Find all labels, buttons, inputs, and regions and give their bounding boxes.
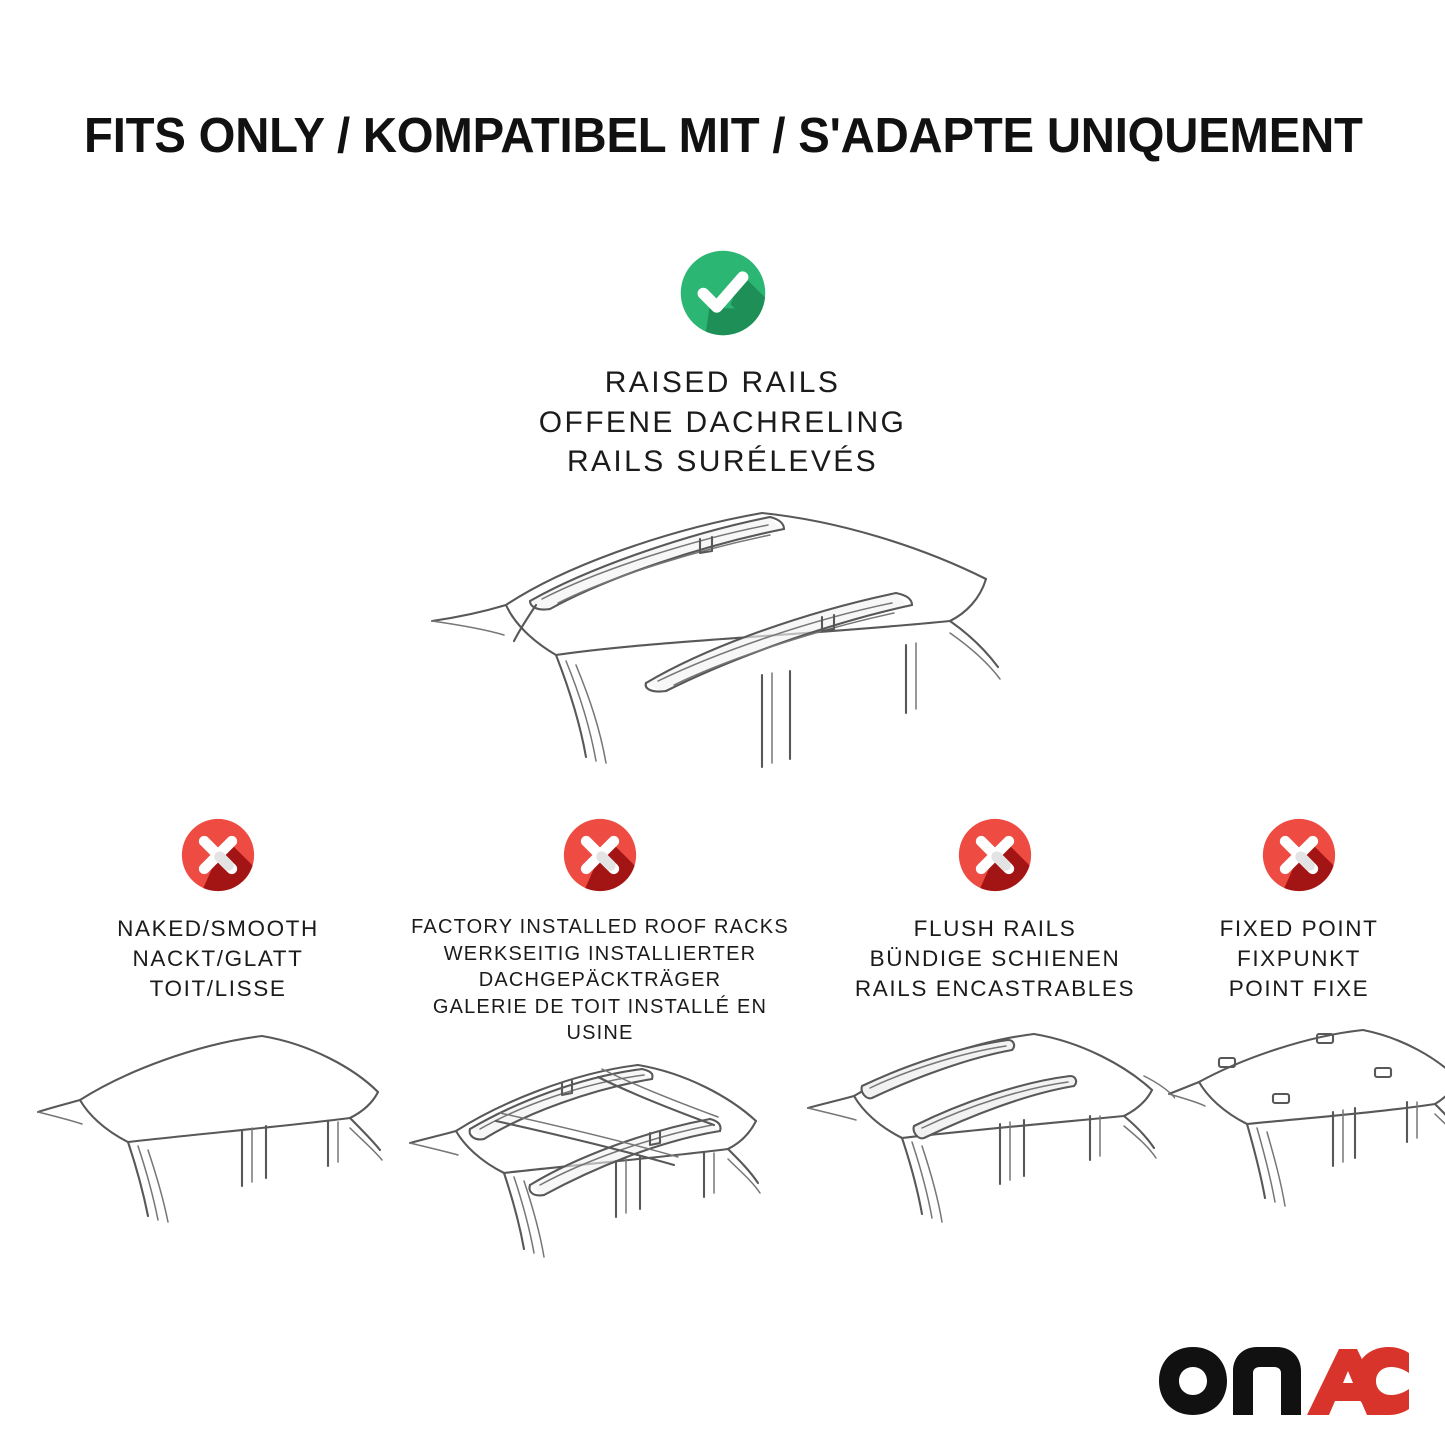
check-circle-icon (675, 245, 771, 341)
caption-line-de: FIXPUNKT (1165, 944, 1433, 974)
page-title: FITS ONLY / KOMPATIBEL MIT / S'ADAPTE UN… (84, 108, 1329, 164)
caption-line-fr: GALERIE DE TOIT INSTALLÉ EN USINE (398, 994, 802, 1047)
option-caption: FIXED POINT FIXPUNKT POINT FIXE (1165, 914, 1433, 1004)
omac-logo (1157, 1343, 1415, 1417)
car-roof-raised-rails-illustration (410, 495, 1030, 785)
not-compatible-section: NAKED/SMOOTH NACKT/GLATT TOIT/LISSE (0, 812, 1445, 1252)
compatible-caption: RAISED RAILS OFFENE DACHRELING RAILS SUR… (0, 363, 1445, 482)
option-fixed-point: FIXED POINT FIXPUNKT POINT FIXE (1165, 812, 1433, 1235)
option-factory-roof-racks: FACTORY INSTALLED ROOF RACKS WERKSEITIG … (398, 812, 802, 1278)
caption-line-en: RAISED RAILS (0, 363, 1445, 403)
option-caption: FACTORY INSTALLED ROOF RACKS WERKSEITIG … (398, 914, 802, 1047)
compatible-section: RAISED RAILS OFFENE DACHRELING RAILS SUR… (0, 245, 1445, 482)
caption-line-de-2: DACHGEPÄCKTRÄGER (398, 967, 802, 994)
caption-line-de-1: WERKSEITIG INSTALLIERTER (398, 941, 802, 968)
option-caption: NAKED/SMOOTH NACKT/GLATT TOIT/LISSE (28, 914, 408, 1004)
caption-line-fr: TOIT/LISSE (28, 974, 408, 1004)
cross-circle-icon (952, 812, 1038, 898)
caption-line-de: NACKT/GLATT (28, 944, 408, 974)
compatibility-infographic: FITS ONLY / KOMPATIBEL MIT / S'ADAPTE UN… (0, 0, 1445, 1445)
caption-line-de: BÜNDIGE SCHIENEN (800, 944, 1190, 974)
car-roof-fixed-point-illustration (1165, 1020, 1445, 1235)
option-naked-smooth: NAKED/SMOOTH NACKT/GLATT TOIT/LISSE (28, 812, 408, 1235)
caption-line-fr: POINT FIXE (1165, 974, 1433, 1004)
cross-circle-icon (1256, 812, 1342, 898)
caption-line-fr: RAILS ENCASTRABLES (800, 974, 1190, 1004)
cross-circle-icon (557, 812, 643, 898)
car-roof-flush-rails-illustration (800, 1020, 1175, 1235)
option-caption: FLUSH RAILS BÜNDIGE SCHIENEN RAILS ENCAS… (800, 914, 1190, 1004)
car-roof-factory-roof-racks-illustration (400, 1053, 780, 1278)
caption-line-en: FLUSH RAILS (800, 914, 1190, 944)
caption-line-en: FIXED POINT (1165, 914, 1433, 944)
caption-line-en: NAKED/SMOOTH (28, 914, 408, 944)
car-roof-naked-smooth-illustration (28, 1020, 388, 1235)
caption-line-fr: RAILS SURÉLEVÉS (0, 442, 1445, 482)
option-flush-rails: FLUSH RAILS BÜNDIGE SCHIENEN RAILS ENCAS… (800, 812, 1190, 1235)
caption-line-en: FACTORY INSTALLED ROOF RACKS (398, 914, 802, 941)
cross-circle-icon (175, 812, 261, 898)
caption-line-de: OFFENE DACHRELING (0, 403, 1445, 443)
